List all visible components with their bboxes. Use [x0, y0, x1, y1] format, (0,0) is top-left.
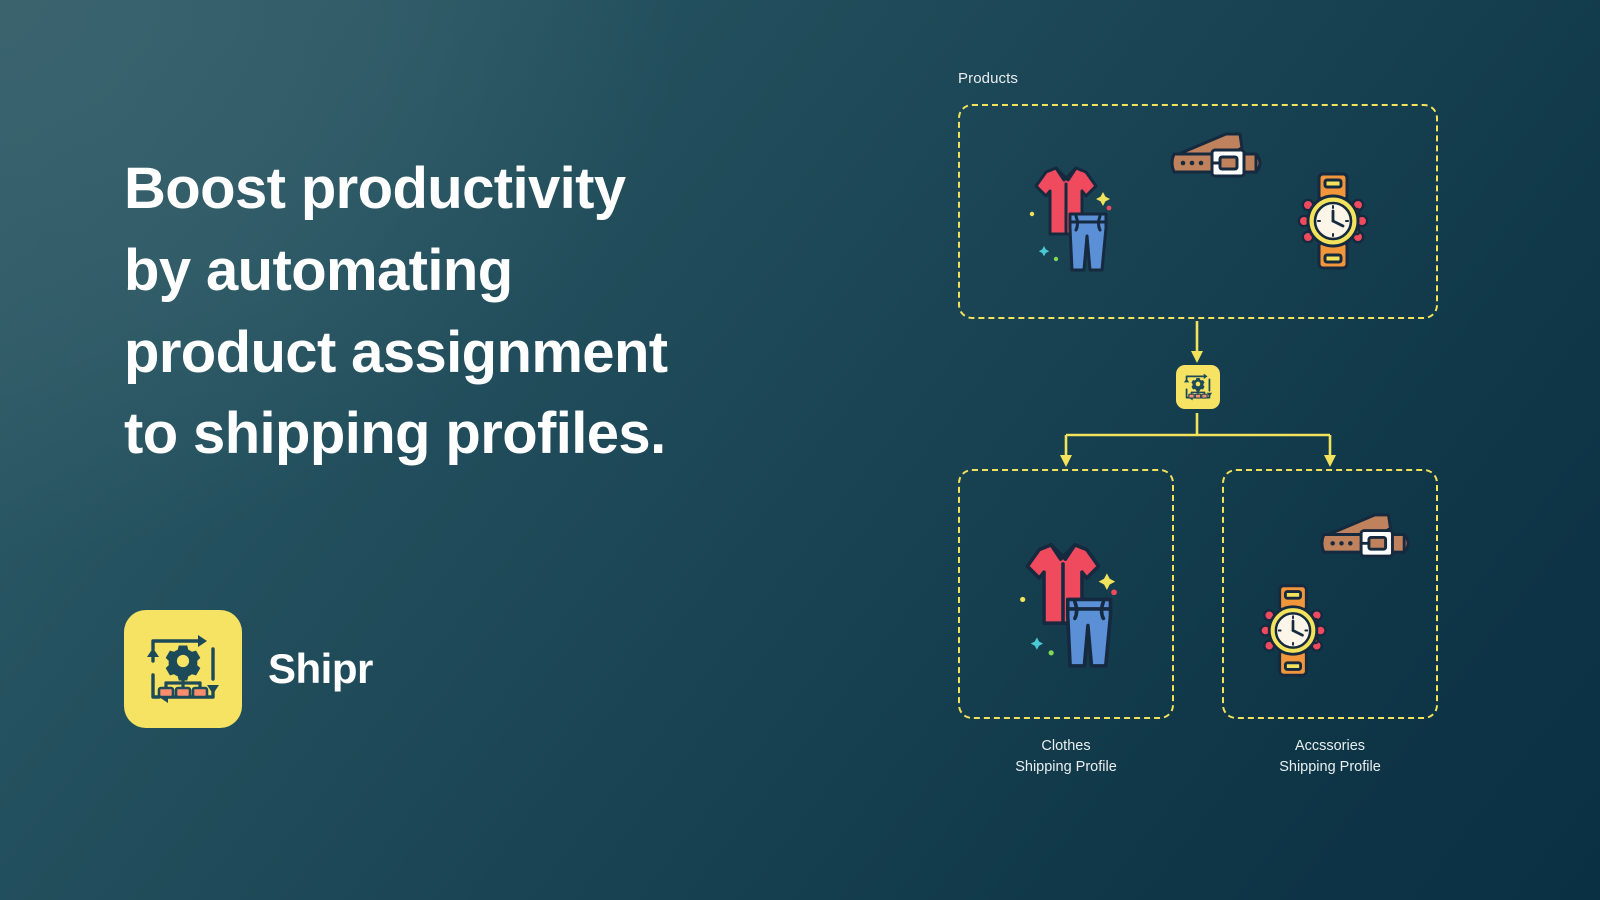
shipr-automation-icon: [1182, 371, 1214, 403]
headline-line-4: to shipping profiles.: [124, 393, 864, 475]
belt-icon: [1168, 128, 1266, 180]
headline-line-1: Boost productivity: [124, 148, 864, 230]
hero-text-block: Boost productivity by automating product…: [124, 148, 864, 475]
accessories-shipping-profile: Accssories Shipping Profile: [1222, 469, 1438, 778]
flow-connector: [958, 319, 1438, 469]
caption-line-1: Clothes: [1041, 738, 1090, 754]
caption-line-2: Shipping Profile: [1222, 757, 1438, 778]
accessories-profile-box: [1222, 469, 1438, 719]
products-box: [958, 104, 1438, 319]
clothes-shipping-profile: Clothes Shipping Profile: [958, 469, 1174, 778]
app-logo-tile: [124, 610, 242, 728]
headline-line-3: product assignment: [124, 312, 864, 394]
caption-line-2: Shipping Profile: [958, 757, 1174, 778]
poster-background: Boost productivity by automating product…: [0, 0, 1600, 900]
clothes-icon: [1020, 158, 1112, 276]
clothes-icon: [1008, 533, 1118, 673]
shipping-profiles-row: Clothes Shipping Profile: [958, 469, 1438, 778]
clothes-profile-box: [958, 469, 1174, 719]
watch-icon: [1254, 583, 1332, 678]
page-title: Boost productivity by automating product…: [124, 148, 864, 475]
caption-line-1: Accssories: [1295, 738, 1365, 754]
brand-lockup: Shipr: [124, 610, 373, 728]
flow-diagram: Products: [958, 70, 1438, 810]
watch-icon: [1292, 171, 1374, 271]
clothes-profile-caption: Clothes Shipping Profile: [958, 736, 1174, 778]
headline-line-2: by automating: [124, 230, 864, 312]
shipr-automation-node[interactable]: [1176, 365, 1220, 409]
brand-name: Shipr: [268, 645, 373, 693]
belt-icon: [1318, 509, 1414, 560]
accessories-profile-caption: Accssories Shipping Profile: [1222, 736, 1438, 778]
automation-flow-gear-icon: [141, 627, 225, 711]
diagram-title: Products: [958, 70, 1438, 90]
